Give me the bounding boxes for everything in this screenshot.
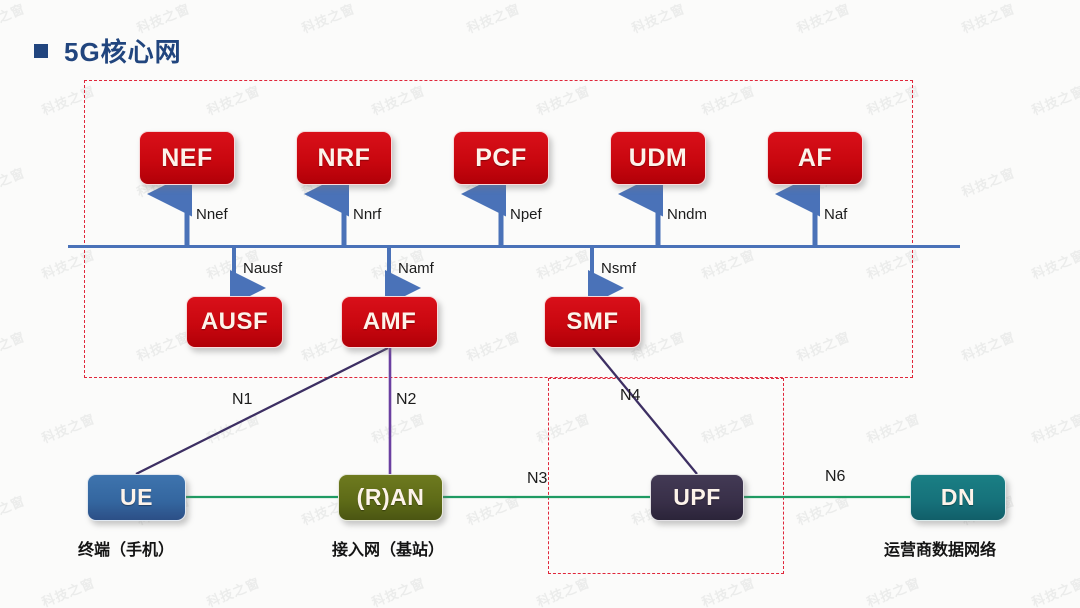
reference-point-n3: N3 [527, 470, 547, 488]
reference-point-n4: N4 [620, 387, 640, 405]
node-af[interactable]: AF [767, 131, 863, 185]
node-ausf[interactable]: AUSF [186, 296, 283, 348]
slide-canvas: 科技之窗科技之窗科技之窗科技之窗科技之窗科技之窗科技之窗科技之窗科技之窗科技之窗… [0, 0, 1080, 608]
reference-point-n6: N6 [825, 468, 845, 486]
node-pcf[interactable]: PCF [453, 131, 549, 185]
node-nef[interactable]: NEF [139, 131, 235, 185]
interface-label-nndm: Nndm [667, 206, 707, 223]
node-udm[interactable]: UDM [610, 131, 706, 185]
node-ue[interactable]: UE [87, 474, 186, 521]
page-title: 5G核心网 [34, 32, 182, 69]
interface-label-nnrf: Nnrf [353, 206, 381, 223]
interface-label-namf: Namf [398, 260, 434, 277]
node-nrf[interactable]: NRF [296, 131, 392, 185]
page-title-text: 5G核心网 [64, 32, 182, 69]
node-upf[interactable]: UPF [650, 474, 744, 521]
service-based-interface-bus [68, 245, 960, 248]
interface-label-nsmf: Nsmf [601, 260, 636, 277]
caption-dn: 运营商数据网络 [884, 536, 996, 560]
square-bullet-icon [34, 44, 48, 58]
interface-label-npef: Npef [510, 206, 542, 223]
interface-label-nausf: Nausf [243, 260, 282, 277]
caption-ran: 接入网（基站） [332, 536, 444, 560]
node-dn[interactable]: DN [910, 474, 1006, 521]
interface-label-nnef: Nnef [196, 206, 228, 223]
node-amf[interactable]: AMF [341, 296, 438, 348]
node-smf[interactable]: SMF [544, 296, 641, 348]
node-ran[interactable]: (R)AN [338, 474, 443, 521]
reference-point-n2: N2 [396, 391, 416, 409]
reference-point-n1: N1 [232, 391, 252, 409]
caption-ue: 终端（手机） [78, 536, 174, 560]
interface-label-naf: Naf [824, 206, 847, 223]
